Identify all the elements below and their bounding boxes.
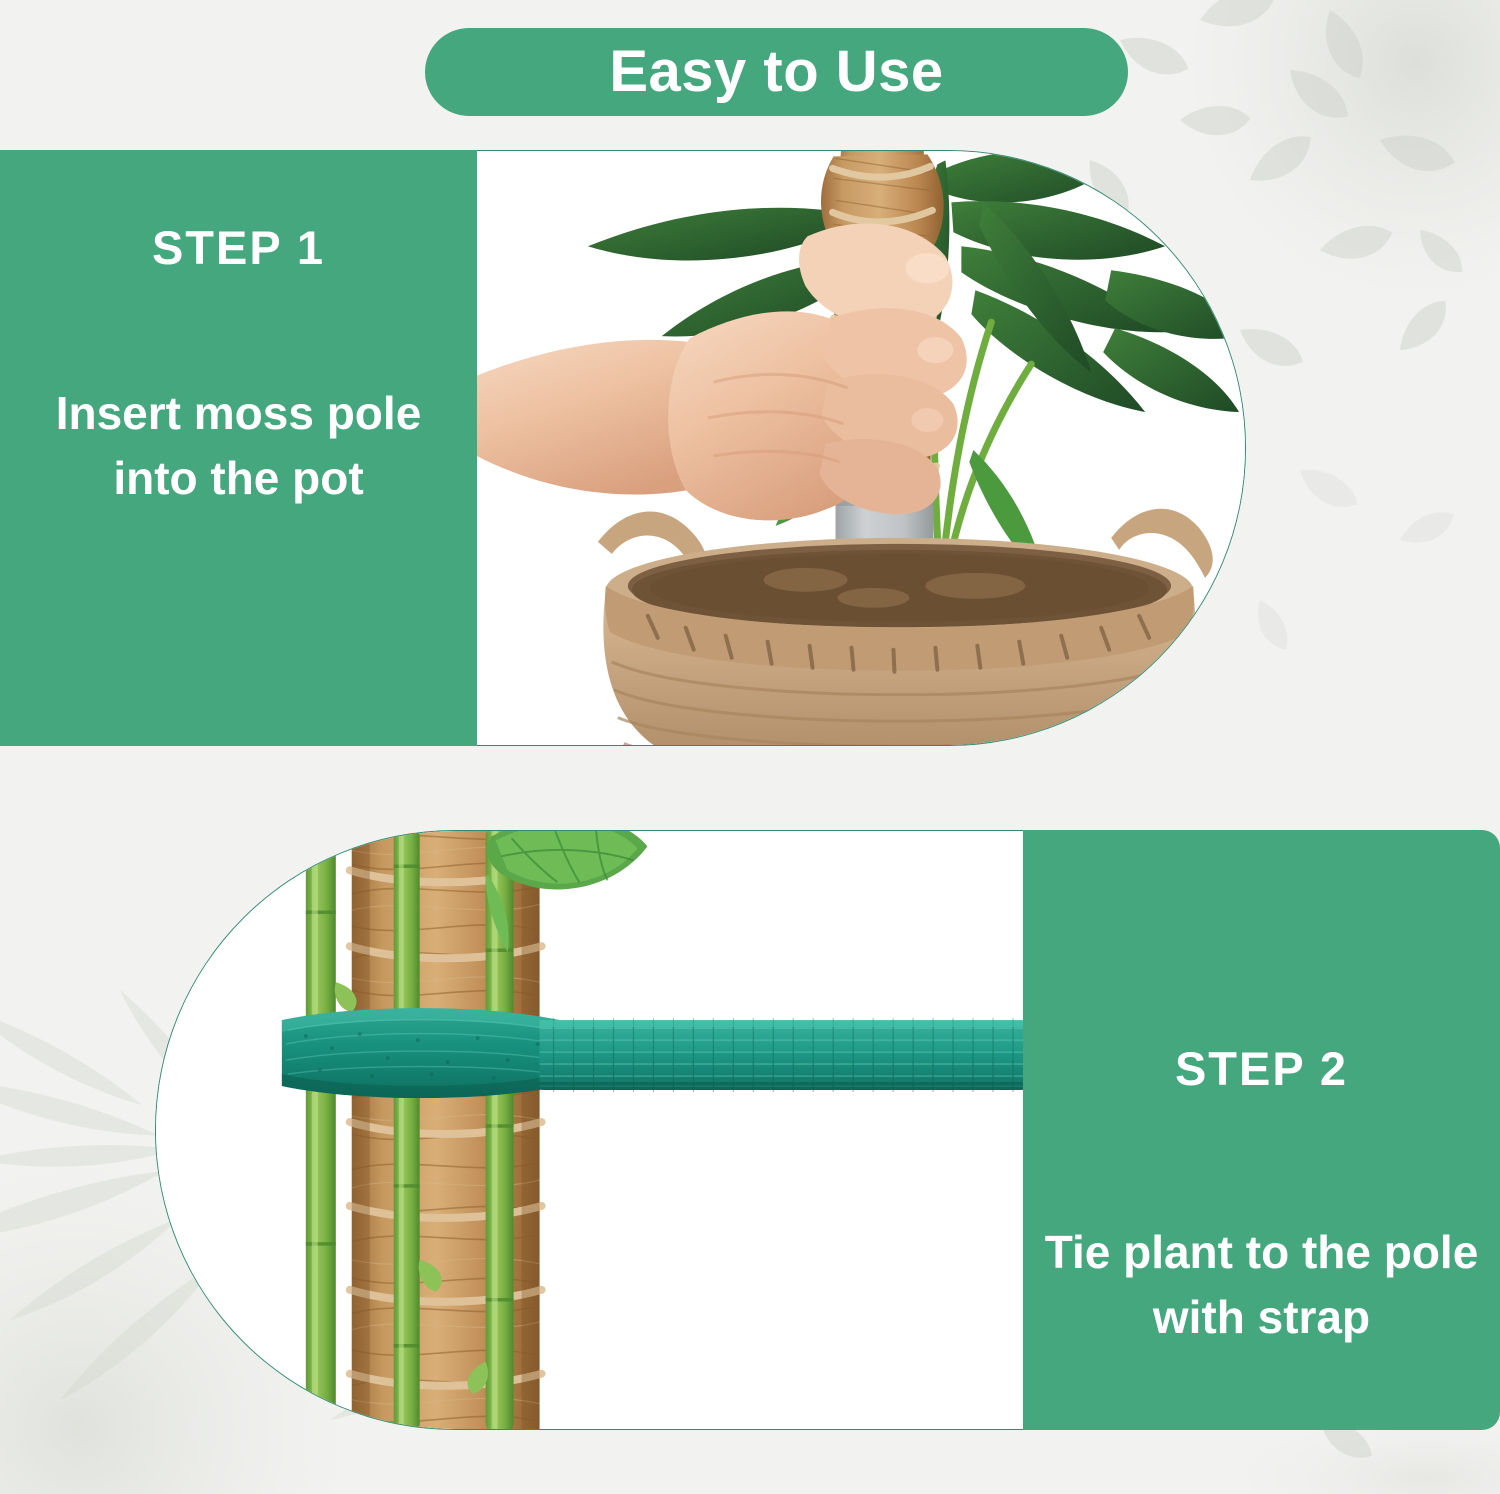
- step-2-photo: [155, 830, 1025, 1430]
- page-title: Easy to Use: [609, 43, 943, 101]
- basket-pot: [598, 509, 1213, 745]
- step-1-photo: [476, 150, 1246, 746]
- step-1-text-panel: STEP 1 Insert moss pole into the pot: [0, 150, 477, 746]
- step-card-1: STEP 1 Insert moss pole into the pot: [0, 150, 1246, 746]
- velcro-strap: [282, 1008, 1025, 1098]
- scene-insert-moss-pole: [476, 151, 1245, 745]
- scene-tie-plant-to-pole: [156, 831, 1025, 1429]
- step-card-2: STEP 2 Tie plant to the pole with strap: [155, 830, 1500, 1430]
- step-1-description: Insert moss pole into the pot: [10, 381, 468, 512]
- page-title-banner: Easy to Use: [425, 28, 1128, 116]
- step-2-text-panel: STEP 2 Tie plant to the pole with strap: [1023, 830, 1500, 1430]
- step-1-label: STEP 1: [152, 224, 325, 271]
- step-2-description: Tie plant to the pole with strap: [1033, 1220, 1491, 1351]
- step-2-label: STEP 2: [1175, 1045, 1348, 1092]
